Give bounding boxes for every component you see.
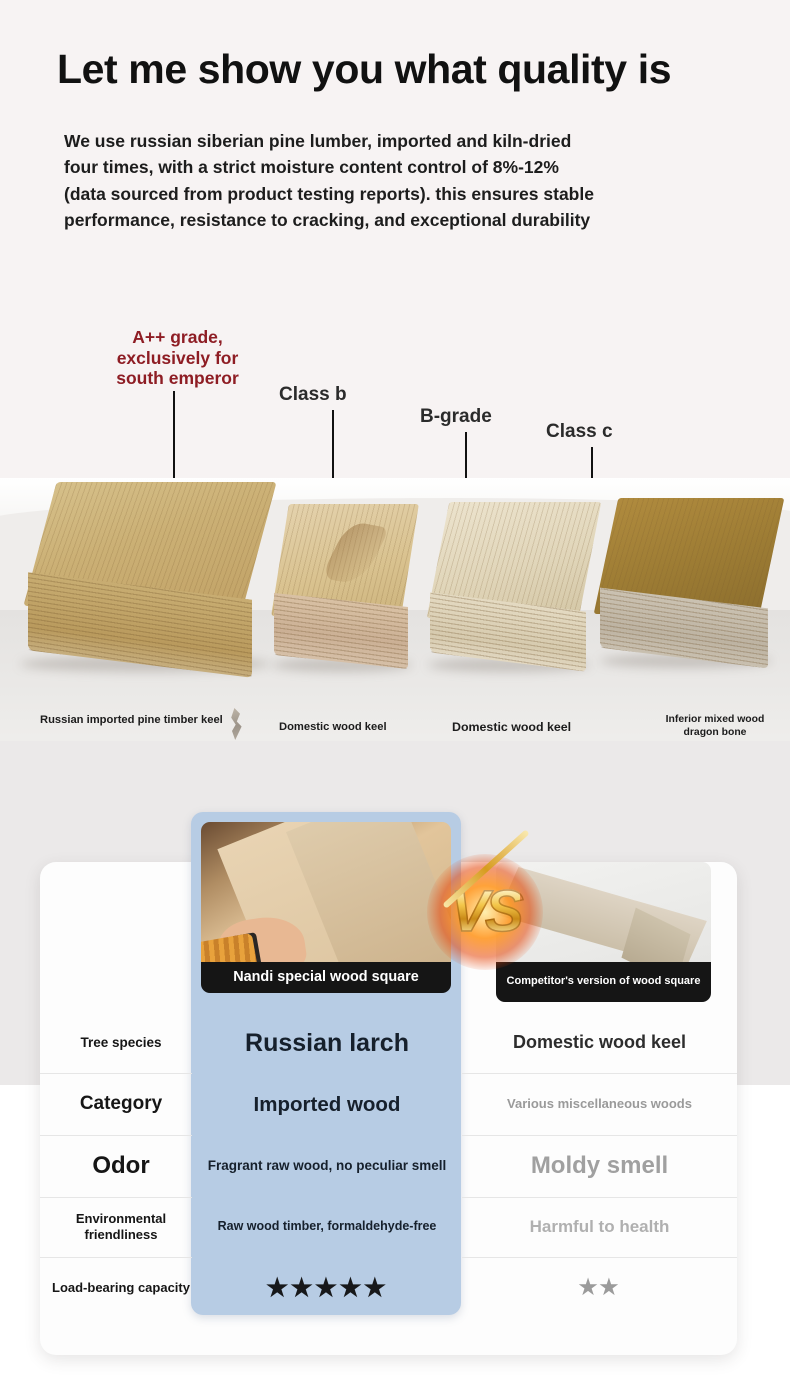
- plank-caption-d: Inferior mixed wood dragon bone: [655, 714, 775, 739]
- table-row: Tree species Russian larch Domestic wood…: [40, 1013, 737, 1073]
- callout-class-c-text: Class c: [546, 421, 613, 443]
- page-title: Let me show you what quality is: [57, 46, 671, 93]
- description-line: performance, resistance to cracking, and…: [64, 207, 744, 233]
- product-detail-page: Let me show you what quality is We use r…: [0, 0, 790, 1389]
- row-label: Category: [40, 1073, 192, 1135]
- row-label: Tree species: [40, 1013, 192, 1073]
- row-value-ours: Fragrant raw wood, no peculiar smell: [192, 1135, 462, 1197]
- wood-plank-c: [424, 502, 592, 670]
- row-rating-competitor: ★★: [462, 1257, 737, 1319]
- plank-caption-c: Domestic wood keel: [452, 720, 571, 735]
- plank-caption-a: Russian imported pine timber keel: [40, 714, 240, 728]
- callout-grade-a-text: A++ grade, exclusively for south emperor: [90, 327, 265, 389]
- row-value-competitor: Moldy smell: [462, 1135, 737, 1197]
- row-value-competitor: Domestic wood keel: [462, 1013, 737, 1073]
- vs-badge: VS: [424, 852, 546, 972]
- star-rating-bad: ★★: [579, 1275, 621, 1300]
- description-line: (data sourced from product testing repor…: [64, 181, 744, 207]
- callout-class-c: Class c: [546, 421, 613, 443]
- plank-side: [274, 593, 408, 669]
- row-value-competitor: Various miscellaneous woods: [462, 1073, 737, 1135]
- row-label: Load-bearing capacity: [40, 1257, 192, 1319]
- callout-class-b: Class b: [279, 384, 347, 406]
- description-line: four times, with a strict moisture conte…: [64, 154, 744, 180]
- table-row: Odor Fragrant raw wood, no peculiar smel…: [40, 1135, 737, 1197]
- row-value-ours: Imported wood: [192, 1073, 462, 1135]
- row-value-ours: Raw wood timber, formaldehyde-free: [192, 1197, 462, 1257]
- callout-grade-a: A++ grade, exclusively for south emperor: [90, 327, 265, 389]
- description-line: We use russian siberian pine lumber, imp…: [64, 128, 744, 154]
- wood-plank-a: [14, 482, 260, 668]
- callout-b-grade: B-grade: [420, 406, 492, 428]
- wood-plank-b: [268, 504, 412, 670]
- table-row: Category Imported wood Various miscellan…: [40, 1073, 737, 1135]
- row-rating-ours: ★★★★★: [192, 1257, 462, 1319]
- comparison-table: Tree species Russian larch Domestic wood…: [40, 1013, 737, 1319]
- row-label: Environmental friendliness: [40, 1197, 192, 1257]
- plank-caption-b: Domestic wood keel: [279, 721, 387, 735]
- callout-b-grade-text: B-grade: [420, 406, 492, 428]
- table-row: Environmental friendliness Raw wood timb…: [40, 1197, 737, 1257]
- wood-plank-d: [596, 498, 776, 666]
- callout-class-b-text: Class b: [279, 384, 347, 406]
- row-value-competitor: Harmful to health: [462, 1197, 737, 1257]
- row-label: Odor: [40, 1135, 192, 1197]
- wood-comparison-photo: [0, 478, 790, 741]
- row-value-ours: Russian larch: [192, 1013, 462, 1073]
- star-rating-good: ★★★★★: [266, 1273, 388, 1304]
- page-description: We use russian siberian pine lumber, imp…: [64, 128, 744, 233]
- table-row: Load-bearing capacity ★★★★★ ★★: [40, 1257, 737, 1319]
- product-image-ours-label: Nandi special wood square: [201, 962, 451, 993]
